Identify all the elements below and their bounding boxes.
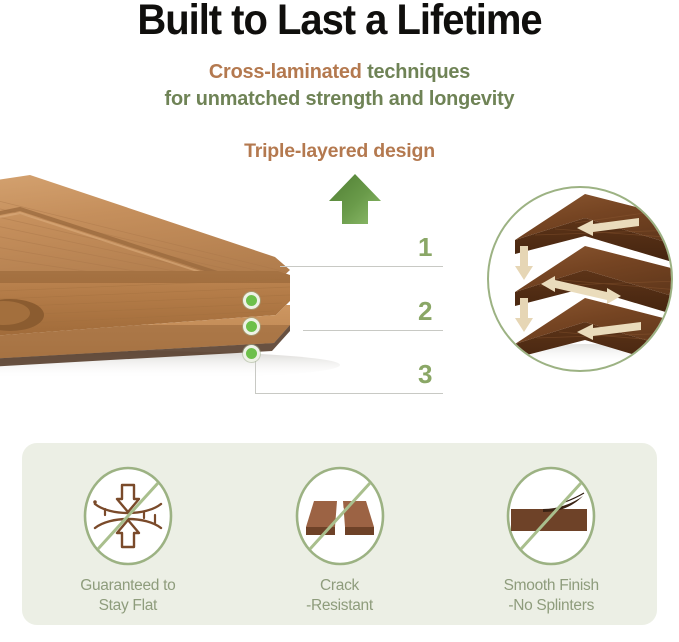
subtitle-rest: techniques [362,60,470,83]
subtitle-line-1: Cross-laminated techniques [10,58,669,85]
three-layer-planks [489,188,673,372]
leader-line-3 [255,393,443,394]
page-title: Built to Last a Lifetime [24,0,655,45]
bamboo-cutting-board [0,175,410,400]
feature-caption-smooth-finish: Smooth Finish -No Splinters [504,576,599,616]
feature-item-crack-resistant: Crack -Resistant [234,443,446,625]
warp-board-icon [82,465,174,567]
leader-line-1 [280,266,443,267]
layer-marker-dot-1 [243,292,260,309]
leader-line-3-vertical [255,357,256,394]
feature-caption-stay-flat: Guaranteed to Stay Flat [80,576,175,616]
callout-number-2: 2 [418,296,432,327]
subtitle: Cross-laminated techniques for unmatched… [10,58,669,112]
caption-line-2: Stay Flat [80,596,175,616]
caption-line-2: -No Splinters [504,596,599,616]
layer-marker-dot-3 [243,345,260,362]
caption-line-2: -Resistant [306,596,373,616]
layer-marker-dot-2 [243,318,260,335]
section-label: Triple-layered design [0,140,679,163]
caption-line-1: Crack [306,576,373,596]
feature-item-smooth-finish: Smooth Finish -No Splinters [445,443,657,625]
feature-item-stay-flat: Guaranteed to Stay Flat [22,443,234,625]
callout-number-3: 3 [418,359,432,390]
callout-number-1: 1 [418,232,432,263]
feature-caption-crack-resistant: Crack -Resistant [306,576,373,616]
feature-list: Guaranteed to Stay Flat [22,443,657,625]
subtitle-highlight: Cross-laminated [209,60,362,83]
cracked-board-icon [294,465,386,567]
cross-lamination-diagram [487,186,673,372]
infographic-canvas: Built to Last a Lifetime Cross-laminated… [0,0,679,642]
subtitle-line-2: for unmatched strength and longevity [10,85,669,112]
caption-line-1: Guaranteed to [80,576,175,596]
splinter-board-icon [505,465,597,567]
caption-line-1: Smooth Finish [504,576,599,596]
leader-line-2 [303,330,443,331]
feature-panel: Guaranteed to Stay Flat [22,443,657,625]
